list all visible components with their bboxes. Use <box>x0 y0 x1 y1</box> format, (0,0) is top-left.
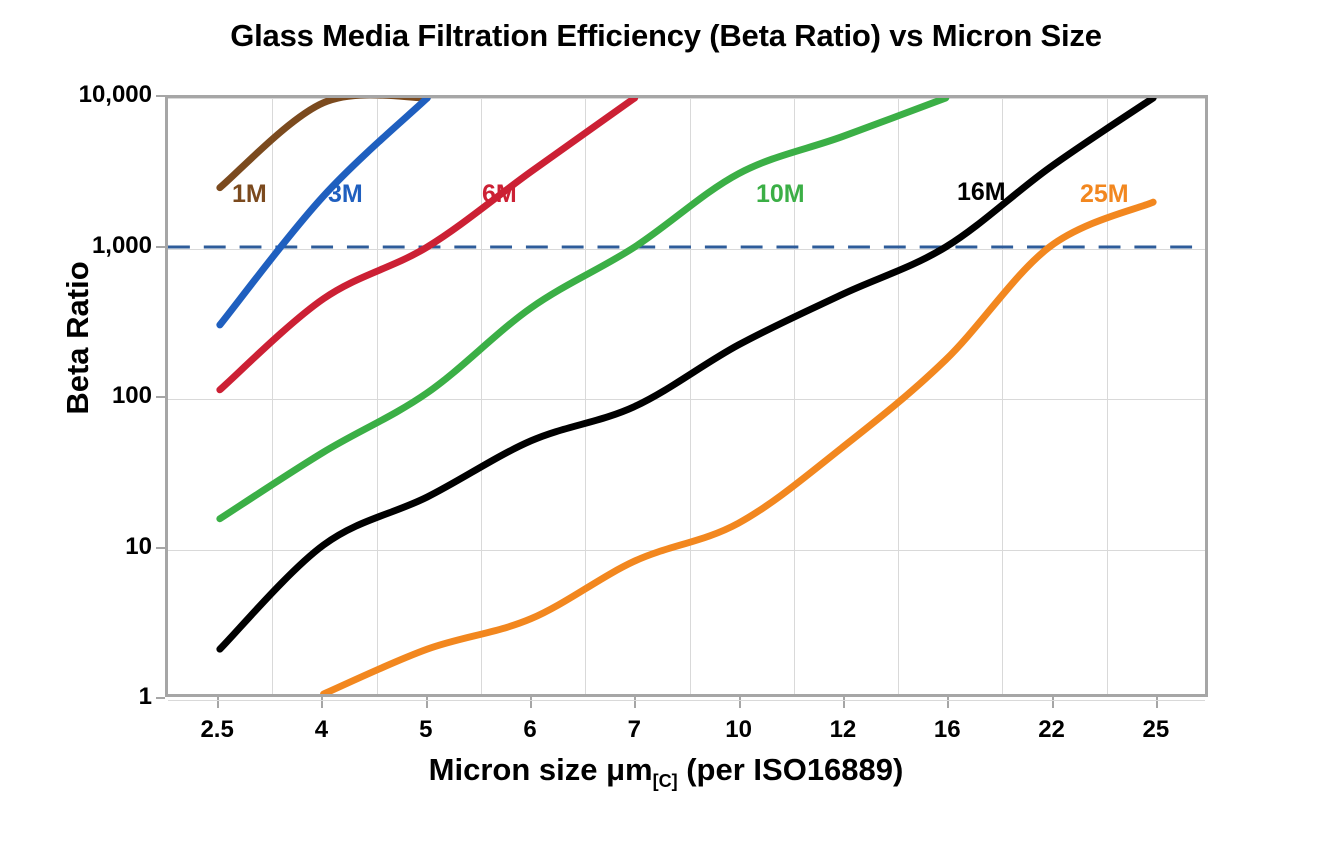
x-axis-title-main: Micron size μm <box>429 752 653 787</box>
y-axis-tick-mark <box>156 246 165 248</box>
x-axis-tick-mark <box>1052 697 1054 708</box>
series-curves <box>168 98 1205 694</box>
plot-area <box>165 95 1208 697</box>
series-label-25m: 25M <box>1080 180 1129 209</box>
x-axis-tick-mark <box>530 697 532 708</box>
x-axis-tick-mark <box>947 697 949 708</box>
series-label-6m: 6M <box>482 180 517 209</box>
x-axis-tick-label: 4 <box>315 716 328 744</box>
x-axis-tick-mark <box>739 697 741 708</box>
x-axis-tick-label: 2.5 <box>200 716 233 744</box>
chart-figure: Glass Media Filtration Efficiency (Beta … <box>0 0 1332 842</box>
x-axis-tick-mark <box>634 697 636 708</box>
y-axis-tick-mark <box>156 547 165 549</box>
y-axis-tick-label: 10,000 <box>79 81 152 109</box>
x-axis-title-tail: (per ISO16889) <box>678 752 904 787</box>
x-axis-tick-label: 10 <box>725 716 752 744</box>
y-axis-title: Beta Ratio <box>60 208 96 468</box>
y-axis-tick-mark <box>156 697 165 699</box>
y-axis-tick-label: 1 <box>139 683 152 711</box>
y-axis-tick-mark <box>156 95 165 97</box>
series-label-3m: 3M <box>328 180 363 209</box>
x-axis-tick-label: 7 <box>628 716 641 744</box>
series-label-1m: 1M <box>232 180 267 209</box>
series-line-3m <box>220 98 427 325</box>
x-axis-tick-mark <box>217 697 219 708</box>
series-line-1m <box>220 95 427 188</box>
y-axis-tick-label: 10 <box>125 533 152 561</box>
series-label-16m: 16M <box>957 178 1006 207</box>
x-axis-tick-label: 12 <box>830 716 857 744</box>
x-axis-tick-label: 16 <box>934 716 961 744</box>
series-label-10m: 10M <box>756 180 805 209</box>
x-axis-tick-mark <box>1156 697 1158 708</box>
y-axis-tick-label: 1,000 <box>92 232 152 260</box>
x-axis-tick-label: 25 <box>1142 716 1169 744</box>
x-axis-tick-mark <box>426 697 428 708</box>
x-axis-tick-mark <box>843 697 845 708</box>
x-axis-tick-label: 22 <box>1038 716 1065 744</box>
y-axis-tick-mark <box>156 396 165 398</box>
x-axis-title: Micron size μm[C] (per ISO16889) <box>0 752 1332 792</box>
chart-title: Glass Media Filtration Efficiency (Beta … <box>0 18 1332 54</box>
x-axis-tick-label: 5 <box>419 716 432 744</box>
x-axis-title-subscript: [C] <box>653 771 678 791</box>
series-line-25m <box>324 202 1154 694</box>
y-axis-tick-label: 100 <box>112 382 152 410</box>
x-axis-tick-mark <box>321 697 323 708</box>
gridline-horizontal <box>168 700 1205 701</box>
x-axis-tick-label: 6 <box>523 716 536 744</box>
